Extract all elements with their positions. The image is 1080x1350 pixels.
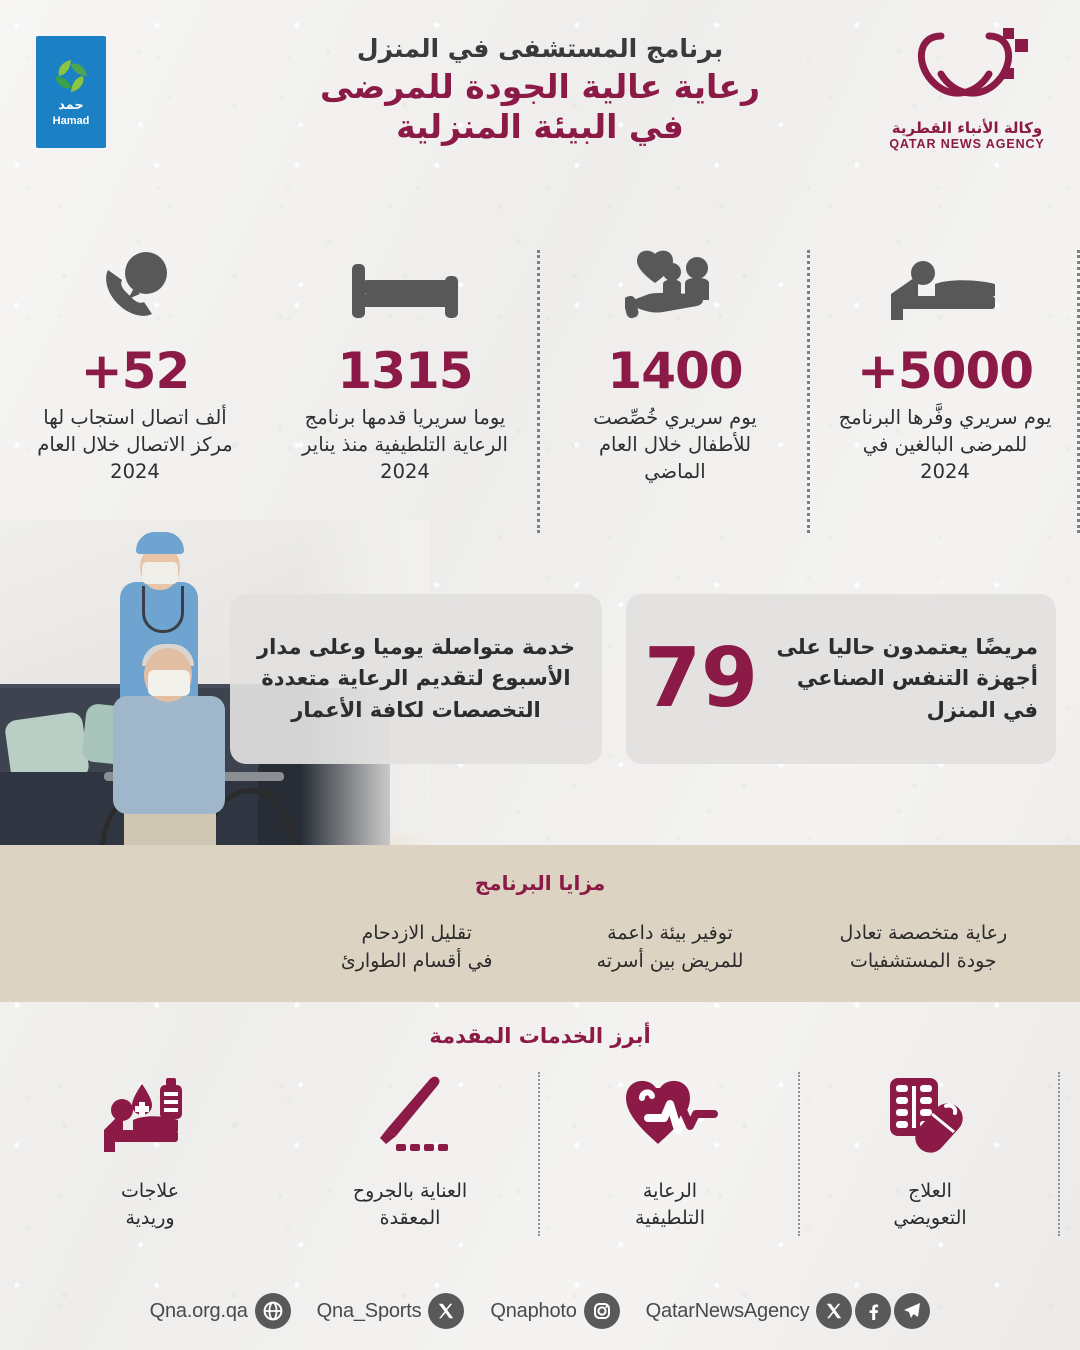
stat-card: 5000+ يوم سريري وفَّرها البرنامج للمرضى …: [810, 240, 1080, 525]
hamad-logo-english: Hamad: [53, 114, 90, 128]
benefit-item: تقليل الازدحامفي أقسام الطوارئ: [290, 920, 543, 975]
stat-number: 1400: [607, 346, 742, 396]
qna-logo-arabic: وكالة الأنباء القطرية: [882, 120, 1052, 137]
phone-chat-icon: [96, 240, 174, 322]
service-item: العناية بالجروحالمعقدة: [280, 1068, 540, 1232]
telegram-icon[interactable]: [894, 1293, 930, 1329]
hospital-bed-icon: [350, 240, 460, 322]
stat-caption: يوم سريري وفَّرها البرنامج للمرضى البالغ…: [838, 405, 1053, 486]
qna-atom-icon: [901, 22, 1033, 114]
patient-in-bed-icon: [885, 240, 1005, 322]
social-group: Qna.org.qa: [150, 1293, 291, 1329]
title-line-1: برنامج المستشفى في المنزل: [310, 34, 770, 65]
stats-row: 52+ ألف اتصال استجاب لها مركز الاتصال خل…: [0, 240, 1080, 525]
social-group: QatarNewsAgency: [646, 1293, 931, 1329]
continuous-service-card: خدمة متواصلة يوميا وعلى مدار الأسبوع لتق…: [230, 594, 602, 764]
service-item: علاجاتوريدية: [20, 1068, 280, 1232]
social-handle[interactable]: QatarNewsAgency: [646, 1300, 810, 1323]
service-label: العناية بالجروحالمعقدة: [353, 1178, 467, 1232]
benefits-title: مزايا البرنامج: [0, 871, 1080, 895]
x-twitter-icon[interactable]: [428, 1293, 464, 1329]
social-handle[interactable]: Qnaphoto: [490, 1300, 576, 1323]
service-label: العلاجالتعويضي: [893, 1178, 966, 1232]
title-line-3: في البيئة المنزلية: [310, 107, 770, 148]
scalpel-icon: [362, 1068, 458, 1164]
social-handle[interactable]: Qna_Sports: [317, 1300, 422, 1323]
benefits-row: تقليل الازدحامفي أقسام الطوارئ توفير بيئ…: [290, 920, 1050, 975]
services-section: أبرز الخدمات المقدمة: [0, 1002, 1080, 1270]
stat-card: 1400 يوم سريري خُصِّصت للأطفال خلال العا…: [540, 240, 810, 525]
benefit-item: رعاية متخصصة تعادلجودة المستشفيات: [797, 920, 1050, 975]
iv-drip-patient-icon: [102, 1068, 198, 1164]
service-label: الرعايةالتلطيفية: [635, 1178, 705, 1232]
header: حمد Hamad برنامج المستشفى في المنزل رعاي…: [0, 0, 1080, 200]
photo-nurse-cap: [136, 532, 184, 554]
stat-card: 52+ ألف اتصال استجاب لها مركز الاتصال خل…: [0, 240, 270, 525]
hamad-leaf-icon: [50, 55, 92, 97]
service-item: الرعايةالتلطيفية: [540, 1068, 800, 1232]
service-item: العلاجالتعويضي: [800, 1068, 1060, 1232]
stat-card: 1315 يوما سريريا قدمها برنامج الرعاية ال…: [270, 240, 540, 525]
facebook-icon[interactable]: [855, 1293, 891, 1329]
pills-blister-icon: [884, 1068, 976, 1164]
x-twitter-icon[interactable]: [816, 1293, 852, 1329]
footer-social-bar: QatarNewsAgency Qnaphoto Qna_S: [0, 1272, 1080, 1350]
hand-heart-family-icon: [625, 240, 725, 322]
ventilator-patients-number: 79: [644, 642, 758, 716]
photo-patient-torso: [113, 696, 225, 814]
social-handle[interactable]: Qna.org.qa: [150, 1300, 248, 1323]
ventilator-patients-text: مريضًا يعتمدون حاليا على أجهزة التنفس ال…: [776, 632, 1038, 727]
qna-logo: وكالة الأنباء القطرية QATAR NEWS AGENCY: [882, 22, 1052, 152]
social-group: Qna_Sports: [317, 1293, 465, 1329]
ventilator-patients-card: 79 مريضًا يعتمدون حاليا على أجهزة التنفس…: [626, 594, 1056, 764]
photo-patient-mask: [148, 670, 190, 696]
hamad-logo-arabic: حمد: [58, 99, 84, 112]
heart-pulse-icon: [620, 1068, 720, 1164]
stat-caption: يوما سريريا قدمها برنامج الرعاية التلطيف…: [298, 405, 513, 486]
stat-number: 1315: [337, 346, 472, 396]
instagram-icon[interactable]: [584, 1293, 620, 1329]
stat-number: 52+: [81, 346, 190, 396]
stat-caption: ألف اتصال استجاب لها مركز الاتصال خلال ا…: [28, 405, 243, 486]
stat-caption: يوم سريري خُصِّصت للأطفال خلال العام الم…: [568, 405, 783, 486]
social-group: Qnaphoto: [490, 1293, 619, 1329]
middle-section: خدمة متواصلة يوميا وعلى مدار الأسبوع لتق…: [0, 520, 1080, 1002]
benefit-item: توفير بيئة داعمةللمريض بين أسرته: [543, 920, 796, 975]
photo-nurse-mask: [142, 562, 178, 584]
qna-logo-english: QATAR NEWS AGENCY: [882, 137, 1052, 152]
service-label: علاجاتوريدية: [121, 1178, 179, 1232]
hamad-logo: حمد Hamad: [36, 36, 106, 148]
photo-stethoscope: [142, 586, 184, 633]
globe-icon[interactable]: [255, 1293, 291, 1329]
services-title: أبرز الخدمات المقدمة: [0, 1024, 1080, 1048]
services-row: علاجاتوريدية العناية بالجروحالمعقدة: [20, 1068, 1060, 1232]
stat-number: 5000+: [857, 346, 1033, 396]
continuous-service-text: خدمة متواصلة يوميا وعلى مدار الأسبوع لتق…: [230, 632, 602, 727]
page-title: برنامج المستشفى في المنزل رعاية عالية ال…: [310, 34, 770, 148]
title-line-2: رعاية عالية الجودة للمرضى: [310, 67, 770, 108]
